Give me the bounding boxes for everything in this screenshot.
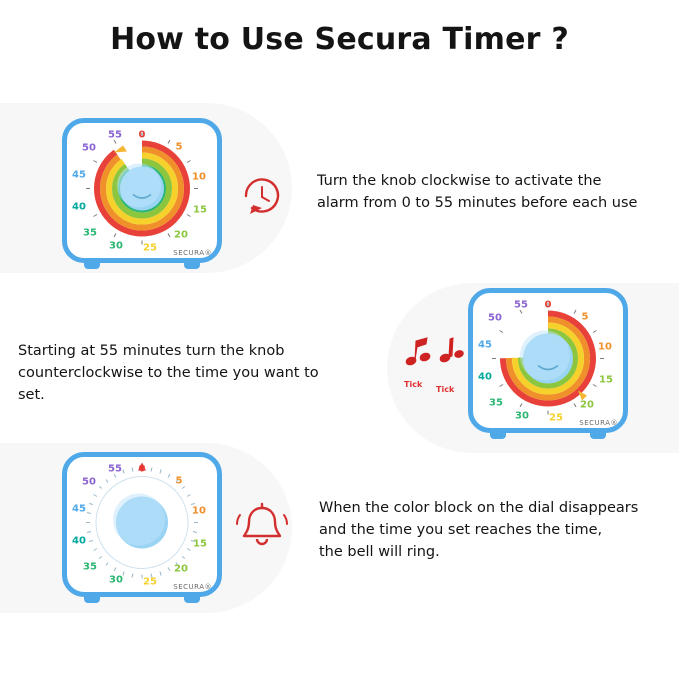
timer-foot-left [84, 263, 100, 269]
step-3-text: When the color block on the dial disappe… [319, 498, 659, 563]
timer-feet [490, 433, 605, 439]
step-3-line-2: and the time you set reaches the time, [319, 520, 659, 542]
timer-feet [84, 597, 199, 603]
dial-number-50: 50 [82, 143, 96, 154]
dial-number-30: 30 [515, 411, 529, 422]
dial-number-30: 30 [109, 241, 123, 252]
step-2-line-2: counterclockwise to the time you want to… [18, 363, 348, 407]
step-2-text: Starting at 55 minutes turn the knob cou… [18, 341, 348, 406]
dial-number-35: 35 [489, 398, 503, 409]
dial-number-40: 40 [478, 372, 492, 383]
timer-device-step-1: 0 5 10 15 20 25 30 35 40 45 50 55 SECURA… [62, 118, 222, 263]
step-3-line-1: When the color block on the dial disappe… [319, 498, 659, 520]
dial-number-40: 40 [72, 536, 86, 547]
step-3-line-3: the bell will ring. [319, 542, 659, 564]
dial-number-10: 10 [192, 172, 206, 183]
dial-number-15: 15 [599, 375, 613, 386]
step-2-line-1: Starting at 55 minutes turn the knob [18, 341, 348, 363]
tick-label-2: Tick [436, 385, 454, 394]
dial-number-0: 0 [545, 300, 552, 311]
dial-number-35: 35 [83, 228, 97, 239]
dial-number-55: 55 [108, 464, 122, 475]
page-title: How to Use Secura Timer ? [0, 22, 679, 57]
dial-number-20: 20 [174, 230, 188, 241]
timer-feet [84, 263, 199, 269]
timer-foot-left [84, 597, 100, 603]
dial-number-5: 5 [176, 476, 183, 487]
brand-label: SECURA® [579, 419, 618, 427]
step-1-line-1: Turn the knob clockwise to activate the [317, 171, 647, 193]
brand-label: SECURA® [173, 249, 212, 257]
dial-number-50: 50 [488, 313, 502, 324]
dial-number-55: 55 [514, 300, 528, 311]
dial-number-40: 40 [72, 202, 86, 213]
dial-number-10: 10 [192, 506, 206, 517]
dial-number-20: 20 [174, 564, 188, 575]
dial-number-5: 5 [176, 142, 183, 153]
timer-device-step-3: 0 5 10 15 20 25 30 35 40 45 50 55 SECURA… [62, 452, 222, 597]
dial-number-45: 45 [72, 504, 86, 515]
infographic-page: How to Use Secura Timer ? [0, 0, 679, 679]
dial-number-55: 55 [108, 130, 122, 141]
dial-number-50: 50 [82, 477, 96, 488]
dial-number-10: 10 [598, 342, 612, 353]
bell-icon [232, 495, 292, 555]
dial-number-30: 30 [109, 575, 123, 586]
dial-number-35: 35 [83, 562, 97, 573]
clock-arrow-clockwise-icon [236, 170, 288, 222]
brand-label: SECURA® [173, 583, 212, 591]
dial-number-0: 0 [139, 130, 146, 141]
tick-label-1: Tick [404, 380, 422, 389]
step-1-line-2: alarm from 0 to 55 minutes before each u… [317, 193, 647, 215]
dial-number-45: 45 [72, 170, 86, 181]
timer-foot-right [184, 597, 200, 603]
dial-number-25: 25 [549, 413, 563, 424]
dial-number-15: 15 [193, 539, 207, 550]
dial-number-45: 45 [478, 340, 492, 351]
dial-number-5: 5 [582, 312, 589, 323]
timer-foot-right [590, 433, 606, 439]
dial-number-0: 0 [139, 464, 146, 475]
timer-foot-right [184, 263, 200, 269]
music-notes-icon [403, 334, 465, 378]
dial-number-20: 20 [580, 400, 594, 411]
step-1-text: Turn the knob clockwise to activate the … [317, 171, 647, 215]
dial-number-15: 15 [193, 205, 207, 216]
dial-number-25: 25 [143, 243, 157, 254]
dial-number-25: 25 [143, 577, 157, 588]
timer-foot-left [490, 433, 506, 439]
timer-device-step-2: 0 5 10 15 20 25 30 35 40 45 50 55 SECURA… [468, 288, 628, 433]
